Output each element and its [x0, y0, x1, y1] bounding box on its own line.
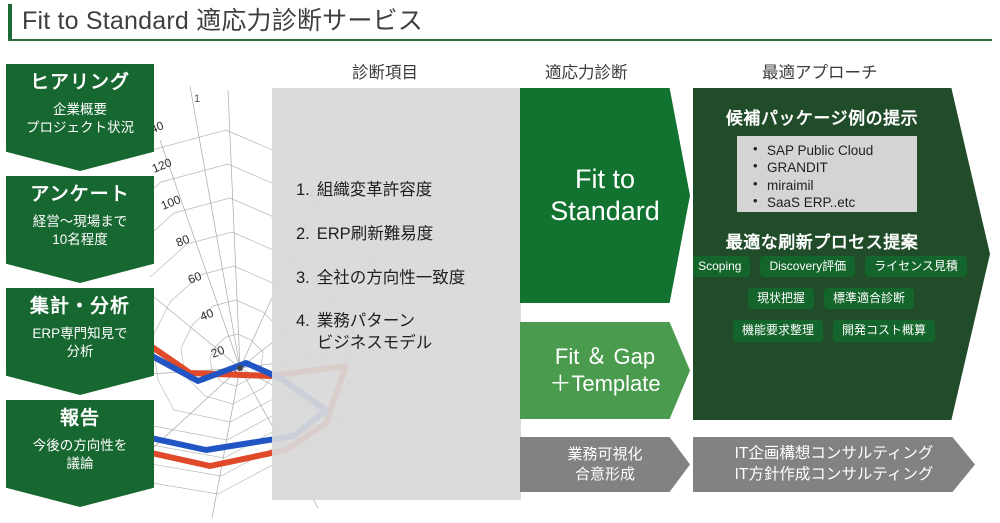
column-header-adaptability: 適応力診断	[545, 59, 628, 83]
adaptability-gyomu-kashika[interactable]: 業務可視化 合意形成	[520, 437, 690, 492]
flow-step-subtitle-line1: 経営〜現場まで	[33, 213, 128, 231]
flow-step-survey[interactable]: アンケート 経営〜現場まで 10名程度	[6, 176, 154, 283]
adaptability-fit-and-gap[interactable]: Fit ＆ Gap ＋Template	[520, 322, 690, 419]
consulting-line2: IT方針作成コンサルティング	[735, 465, 934, 485]
package-list: SAP Public Cloud GRANDIT miraimil SaaS E…	[737, 136, 917, 211]
flow-step-title: 報告	[60, 407, 100, 431]
package-list-item: SAP Public Cloud	[753, 142, 917, 159]
process-tag[interactable]: 標準適合診断	[824, 288, 914, 309]
svg-text:20: 20	[209, 343, 227, 361]
process-tag[interactable]: Discovery評価	[760, 256, 855, 277]
flow-step-report[interactable]: 報告 今後の方向性を 議論	[6, 400, 154, 507]
svg-text:40: 40	[198, 306, 216, 324]
approach-packages-heading: 候補パッケージ例の提示	[693, 104, 951, 129]
consulting-line1: IT企画構想コンサルティング	[735, 444, 934, 464]
flow-step-analysis[interactable]: 集計・分析 ERP専門知見で 分析	[6, 288, 154, 395]
process-tag-row: Scoping Discovery評価 ライセンス見積	[693, 256, 963, 277]
title-underline	[8, 39, 992, 41]
diagnosis-item-label: 業務パターン ビジネスモデル	[317, 311, 526, 355]
process-tag-area: Scoping Discovery評価 ライセンス見積 現状把握 標準適合診断 …	[693, 256, 963, 353]
package-list-item: miraimil	[753, 177, 917, 194]
process-tag[interactable]: 開発コスト概算	[833, 320, 935, 341]
diagnosis-item-number: 1.	[296, 180, 310, 202]
diagnosis-item: 4. 業務パターン ビジネスモデル	[296, 311, 526, 355]
process-tag-row: 機能要求整理 開発コスト概算	[693, 320, 963, 341]
approach-process-heading: 最適な刷新プロセス提案	[693, 228, 951, 253]
svg-text:1: 1	[194, 93, 200, 105]
slide-canvas: Fit to Standard 適応力診断サービス	[0, 0, 1000, 523]
gyomu-line2: 合意形成	[575, 465, 635, 484]
gyomu-line1: 業務可視化	[567, 445, 642, 464]
flow-step-title: アンケート	[30, 183, 129, 207]
flow-step-subtitle-line2: 10名程度	[52, 231, 108, 249]
flow-step-subtitle-line2: 分析	[67, 343, 94, 361]
consulting-arrow[interactable]: IT企画構想コンサルティング IT方針作成コンサルティング	[693, 437, 975, 492]
diagnosis-item: 2. ERP刷新難易度	[296, 224, 526, 246]
svg-text:80: 80	[174, 232, 192, 250]
diagnosis-item-label: 組織変革許容度	[317, 180, 526, 202]
column-header-diagnosis-items: 診断項目	[352, 59, 418, 83]
flow-step-subtitle-line2: プロジェクト状況	[26, 119, 134, 137]
flow-step-subtitle-line2: 議論	[67, 455, 94, 473]
svg-text:60: 60	[186, 269, 204, 287]
flow-step-subtitle-line1: 企業概要	[53, 101, 107, 119]
process-tag[interactable]: 現状把握	[748, 288, 814, 309]
process-tag[interactable]: Scoping	[689, 256, 750, 277]
column-header-approach: 最適アプローチ	[762, 59, 878, 83]
flow-step-hearing[interactable]: ヒアリング 企業概要 プロジェクト状況	[6, 64, 154, 171]
package-list-item: SaaS ERP..etc	[753, 194, 917, 211]
diagnosis-item-number: 2.	[296, 224, 310, 246]
diagnosis-item-label: 全社の方向性一致度	[317, 268, 526, 290]
fit-to-standard-line1: Fit to	[575, 164, 635, 196]
package-list-box: SAP Public Cloud GRANDIT miraimil SaaS E…	[737, 136, 917, 212]
fit-and-gap-line2: ＋Template	[549, 371, 660, 397]
fit-to-standard-line2: Standard	[550, 196, 660, 228]
title-bar: Fit to Standard 適応力診断サービス	[8, 4, 992, 44]
fit-and-gap-line1: Fit ＆ Gap	[555, 344, 655, 370]
flow-step-subtitle-line1: 今後の方向性を	[33, 437, 128, 455]
process-tag-row: 現状把握 標準適合診断	[693, 288, 963, 309]
page-title: Fit to Standard 適応力診断サービス	[22, 4, 423, 38]
title-accent-bar	[8, 4, 12, 40]
diagnosis-item: 3. 全社の方向性一致度	[296, 268, 526, 290]
diagnosis-item: 1. 組織変革許容度	[296, 180, 526, 202]
diagnosis-item-list: 1. 組織変革許容度 2. ERP刷新難易度 3. 全社の方向性一致度 4. 業…	[296, 180, 526, 377]
package-list-item: GRANDIT	[753, 159, 917, 176]
svg-text:120: 120	[150, 155, 174, 176]
diagnosis-item-number: 3.	[296, 268, 310, 290]
adaptability-fit-to-standard[interactable]: Fit to Standard	[520, 88, 690, 303]
flow-step-subtitle-line1: ERP専門知見で	[32, 325, 127, 343]
process-tag[interactable]: ライセンス見積	[865, 256, 967, 277]
process-tag[interactable]: 機能要求整理	[733, 320, 823, 341]
flow-step-title: ヒアリング	[30, 71, 130, 95]
diagnosis-item-number: 4.	[296, 311, 310, 355]
flow-step-title: 集計・分析	[30, 295, 130, 319]
diagnosis-item-label: ERP刷新難易度	[317, 224, 526, 246]
approach-panel: 候補パッケージ例の提示 SAP Public Cloud GRANDIT mir…	[693, 88, 990, 420]
